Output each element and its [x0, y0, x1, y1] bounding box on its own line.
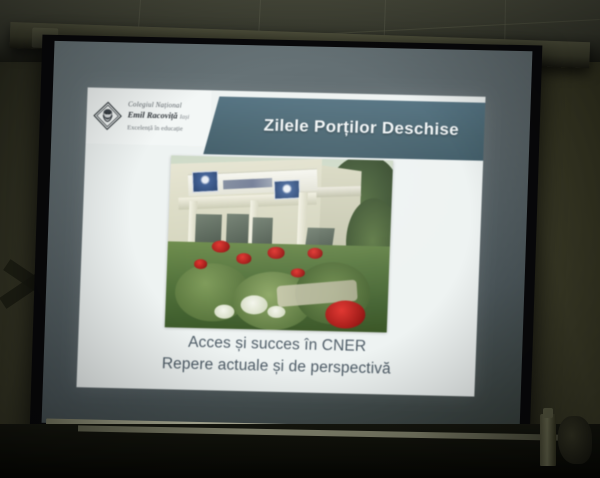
photo-rose-2: [194, 259, 208, 269]
photo-rose-5: [307, 248, 323, 259]
photo-banner-portrait-medallion: [192, 171, 219, 193]
school-logo-block: Colegiul Național Emil Racoviță Iași Exc…: [86, 87, 212, 146]
photo-banner-seal: [274, 180, 301, 200]
logo-school-name: Emil Racoviță: [128, 109, 178, 120]
photo-entrance-door: [226, 213, 249, 244]
photo-white-flower-3: [267, 306, 285, 318]
logo-line-name: Emil Racoviță Iași: [127, 109, 189, 122]
photo-banner-text: [223, 178, 272, 189]
logo-motto: Excelență în educație: [127, 124, 189, 134]
school-building-photo: [165, 155, 393, 332]
photo-window-1: [195, 214, 223, 242]
dark-object-right: [558, 416, 592, 464]
slide-title-text: Zilele Porților Deschise: [229, 115, 459, 142]
logo-city: Iași: [179, 113, 189, 120]
photo-rose-4: [267, 247, 284, 259]
presentation-slide: Colegiul Național Emil Racoviță Iași Exc…: [76, 87, 485, 396]
slide-caption: Acces și succes în CNER Repere actuale ș…: [77, 329, 477, 382]
emil-racovita-diamond-portrait-logo: [92, 101, 123, 132]
bottle-object: [540, 414, 556, 466]
bottle-cap: [543, 408, 553, 418]
slide-title-banner: Zilele Porților Deschise: [203, 96, 485, 161]
photo-white-flower-1: [241, 295, 268, 315]
photo-white-flower-2: [214, 304, 234, 318]
room-scene: Colegiul Național Emil Racoviță Iași Exc…: [0, 0, 600, 478]
photo-rose-6: [291, 268, 305, 277]
photo-rose-3: [236, 253, 252, 264]
photo-rose-foreground: [325, 300, 366, 328]
photo-window-2: [252, 218, 273, 246]
